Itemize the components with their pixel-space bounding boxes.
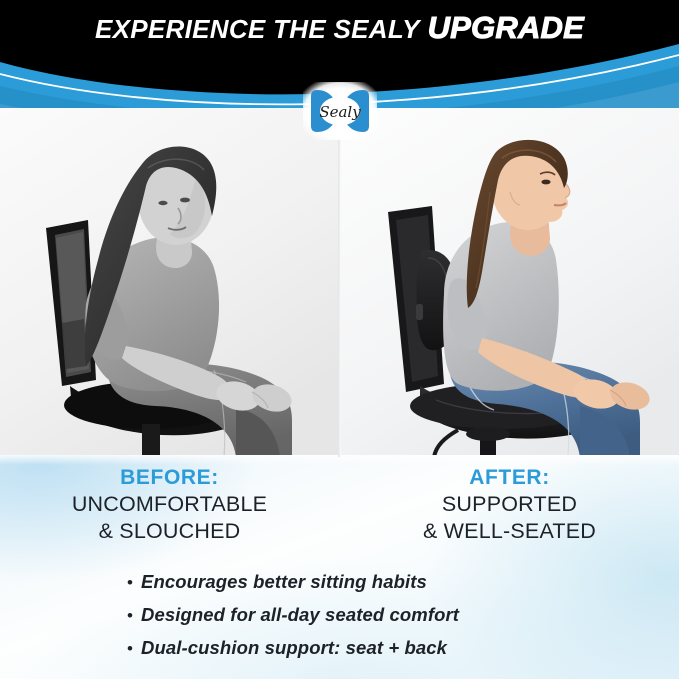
photo-after — [340, 108, 679, 457]
bullet-text-3: Dual-cushion support: seat + back — [141, 634, 447, 661]
feature-bullet-list: • Encourages better sitting habits • Des… — [0, 568, 679, 667]
before-kicker: BEFORE: — [0, 465, 339, 491]
sealy-bowtie-icon: Sealy — [303, 82, 377, 140]
footer-section: BEFORE: UNCOMFORTABLE & SLOUCHED AFTER: … — [0, 455, 679, 679]
photo-divider — [338, 108, 341, 457]
after-kicker: AFTER: — [340, 465, 679, 491]
bullet-dot-icon: • — [127, 638, 141, 660]
bullet-dot-icon: • — [127, 572, 141, 594]
sealy-logo-text: Sealy — [319, 103, 361, 121]
compare-column-before: BEFORE: UNCOMFORTABLE & SLOUCHED — [0, 465, 339, 545]
before-line-1: UNCOMFORTABLE — [0, 491, 339, 518]
before-after-photos — [0, 108, 679, 457]
before-line-2: & SLOUCHED — [0, 518, 339, 545]
sealy-logo: Sealy — [303, 82, 377, 140]
comparison-labels: BEFORE: UNCOMFORTABLE & SLOUCHED AFTER: … — [0, 465, 679, 565]
bullet-dot-icon: • — [127, 605, 141, 627]
list-item: • Dual-cushion support: seat + back — [0, 634, 679, 661]
photo-before — [0, 108, 339, 457]
after-line-1: SUPPORTED — [340, 491, 679, 518]
after-line-2: & WELL-SEATED — [340, 518, 679, 545]
list-item: • Designed for all-day seated comfort — [0, 601, 679, 628]
list-item: • Encourages better sitting habits — [0, 568, 679, 595]
promotional-poster: EXPERIENCE THE SEALY UPGRADE Sealy — [0, 0, 679, 679]
bullet-text-1: Encourages better sitting habits — [141, 568, 427, 595]
compare-column-after: AFTER: SUPPORTED & WELL-SEATED — [340, 465, 679, 545]
bullet-text-2: Designed for all-day seated comfort — [141, 601, 459, 628]
